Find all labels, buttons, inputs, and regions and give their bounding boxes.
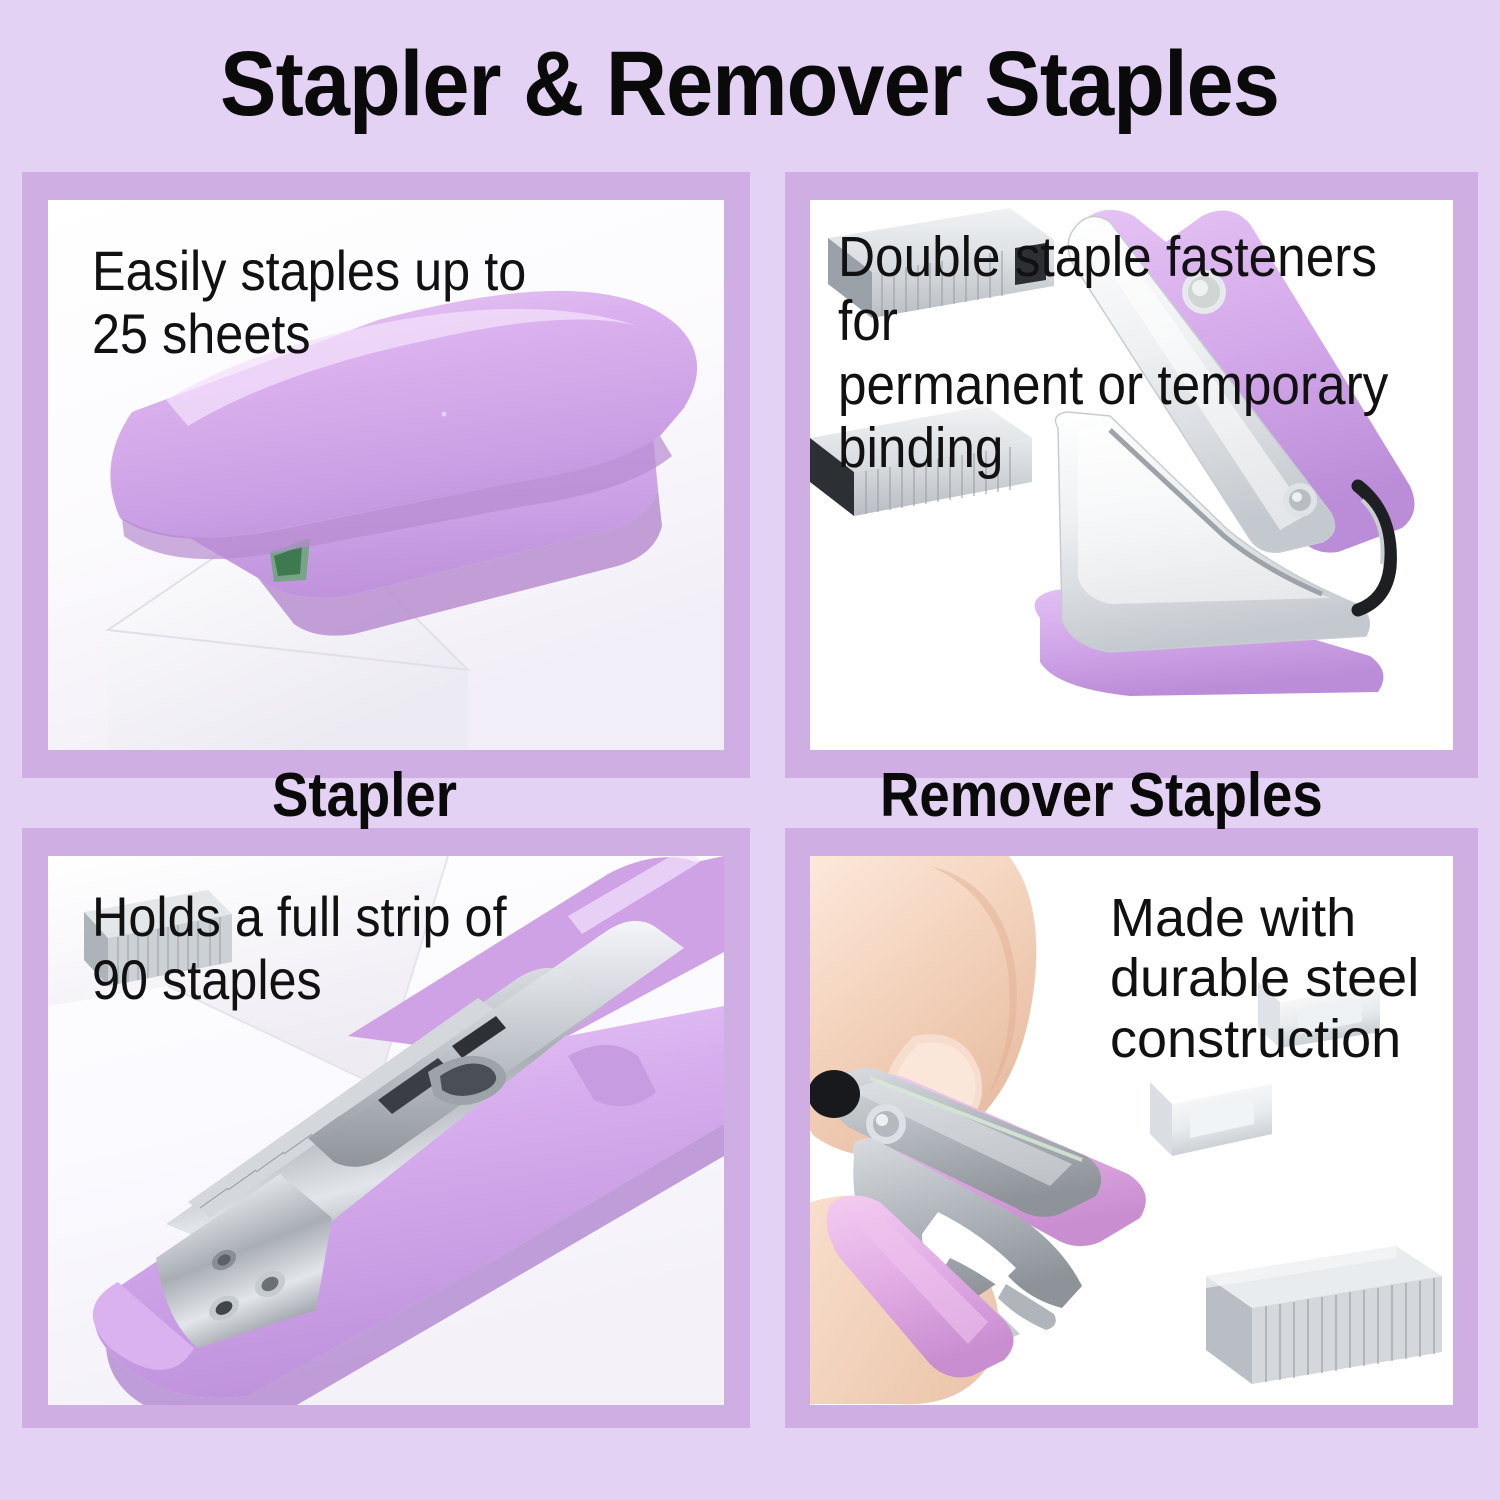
feature-panel-top-right: Double staple fasteners for permanent or… [785, 172, 1478, 778]
product-photo-stapler-closed: 12 24/6 Easily staples up to 25 sheets [48, 200, 724, 750]
product-photo-stapler-open: Holds a full strip of 90 staples [48, 856, 724, 1405]
hand-holding-remover-illustration [810, 856, 1453, 1405]
feature-panel-bottom-left: Holds a full strip of 90 staples [22, 828, 750, 1428]
stapler-open-magazine-illustration [48, 856, 724, 1405]
category-label-stapler: Stapler [272, 760, 457, 831]
staple-remover-illustration [810, 200, 1453, 750]
feature-panel-top-left: 12 24/6 Easily staples up to 25 sheets [22, 172, 750, 778]
page-title-bar: Stapler & Remover Staples [0, 0, 1500, 168]
feature-panel-bottom-right: Made with durable steel construction [785, 828, 1478, 1428]
product-photo-hand-holding-remover: Made with durable steel construction [810, 856, 1453, 1405]
product-photo-remover-and-staples: Double staple fasteners for permanent or… [810, 200, 1453, 750]
page-title: Stapler & Remover Staples [221, 32, 1280, 137]
category-label-remover: Remover Staples [880, 760, 1323, 831]
stapler-closed-illustration: 12 24/6 [48, 200, 724, 750]
